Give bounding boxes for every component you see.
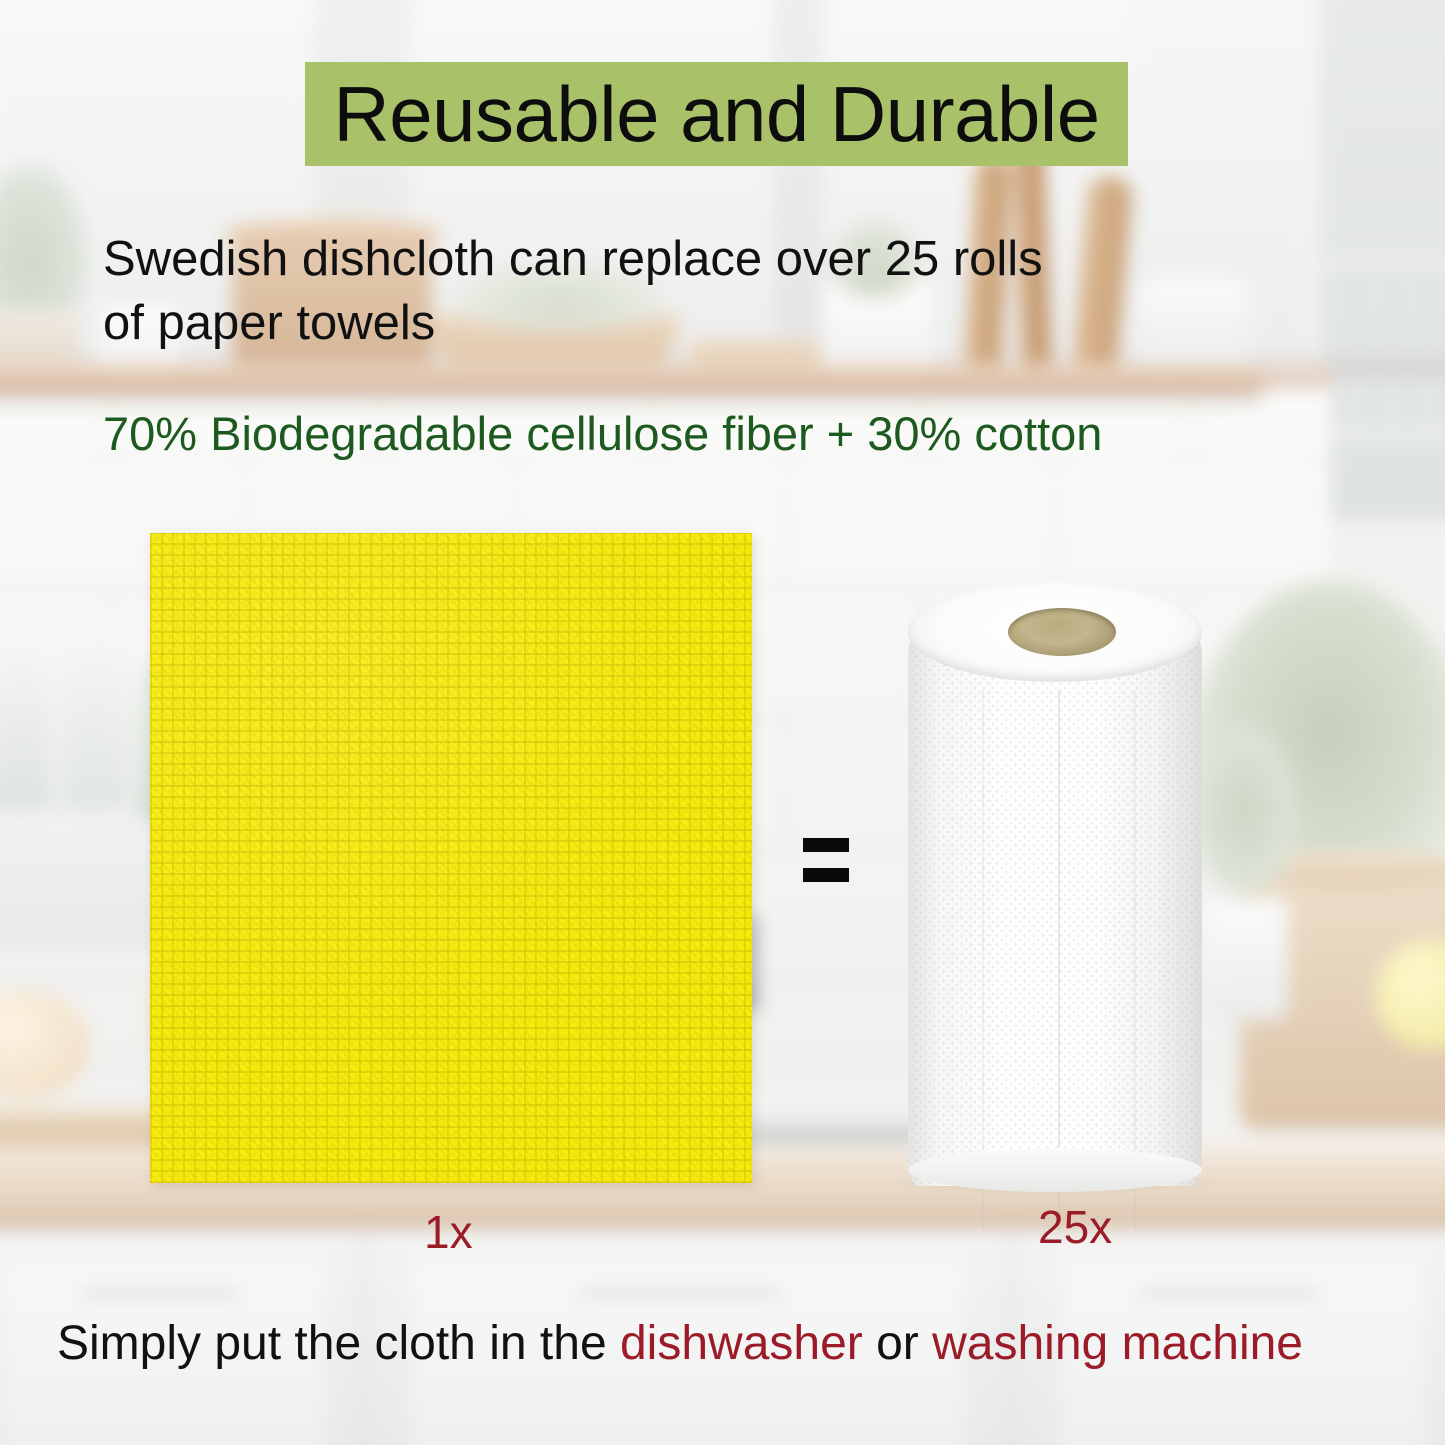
- title-banner: Reusable and Durable: [305, 62, 1128, 166]
- care-text-part2: or: [863, 1317, 932, 1370]
- care-text-washing-machine: washing machine: [932, 1317, 1303, 1370]
- infographic-canvas: Reusable and Durable Swedish dishcloth c…: [0, 0, 1445, 1445]
- roll-quantity-label: 25x: [1038, 1204, 1112, 1250]
- cloth-quantity-label: 1x: [424, 1209, 473, 1255]
- material-composition-text: 70% Biodegradable cellulose fiber + 30% …: [103, 406, 1303, 462]
- paper-towel-roll-image: [908, 582, 1202, 1186]
- care-text-dishwasher: dishwasher: [620, 1317, 863, 1370]
- claim-text: Swedish dishcloth can replace over 25 ro…: [103, 228, 1153, 355]
- dishcloth-dot-texture: [150, 533, 752, 1183]
- roll-core-hole: [1008, 608, 1116, 656]
- care-instruction-text: Simply put the cloth in the dishwasher o…: [57, 1315, 1397, 1373]
- swedish-dishcloth-image: [150, 533, 752, 1183]
- care-text-part1: Simply put the cloth in the: [57, 1317, 620, 1370]
- equals-icon: [803, 838, 849, 884]
- page-title: Reusable and Durable: [333, 75, 1099, 153]
